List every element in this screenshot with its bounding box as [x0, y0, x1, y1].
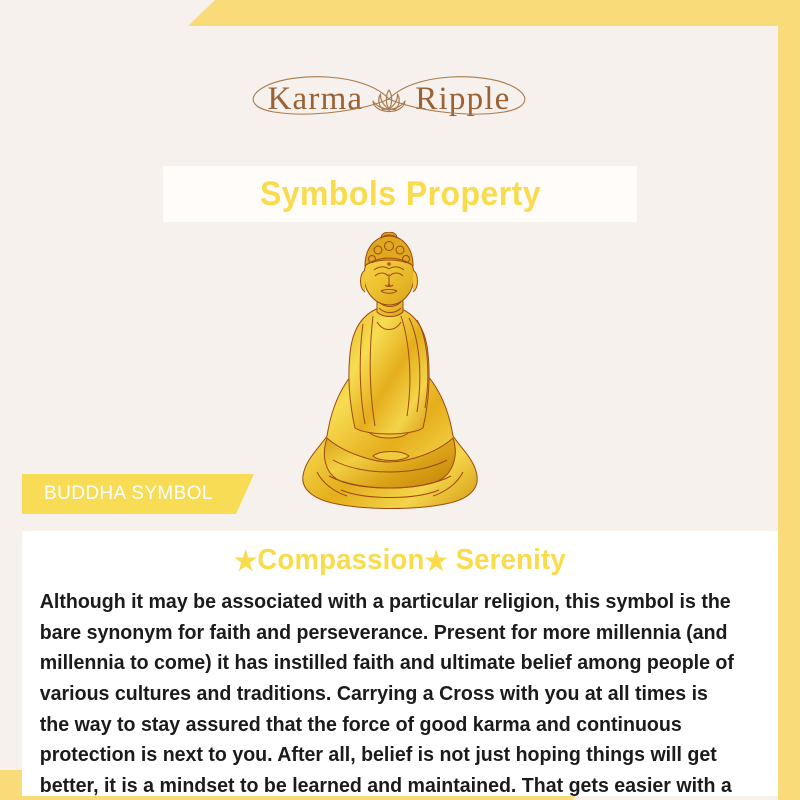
page-title: Symbols Property	[259, 175, 540, 214]
golden-buddha-statue-icon	[289, 232, 489, 522]
symbol-tag-label: BUDDHA SYMBOL	[44, 483, 213, 505]
poster-canvas: Karma Ripple Symbols Property	[0, 0, 800, 800]
symbol-tag: BUDDHA SYMBOL	[22, 474, 254, 514]
title-banner: Symbols Property	[163, 166, 637, 222]
content-card: ★Compassion★ Serenity Although it may be…	[22, 531, 778, 796]
brand-word-left: Karma	[268, 83, 364, 116]
traits-heading: ★Compassion★ Serenity	[50, 545, 749, 577]
trait-serenity: Serenity	[456, 544, 566, 576]
frame-top-band	[0, 0, 800, 26]
poster-stage: Karma Ripple Symbols Property	[0, 26, 778, 770]
frame-right-band	[778, 0, 800, 800]
description-paragraph: Although it may be associated with a par…	[32, 587, 746, 800]
brand-word-right: Ripple	[415, 83, 510, 116]
star-icon-left: ★	[234, 546, 257, 576]
star-icon-right: ★	[425, 546, 448, 576]
brand-logo: Karma Ripple	[0, 68, 778, 130]
trait-compassion: Compassion	[257, 544, 424, 576]
lotus-icon	[369, 82, 409, 116]
